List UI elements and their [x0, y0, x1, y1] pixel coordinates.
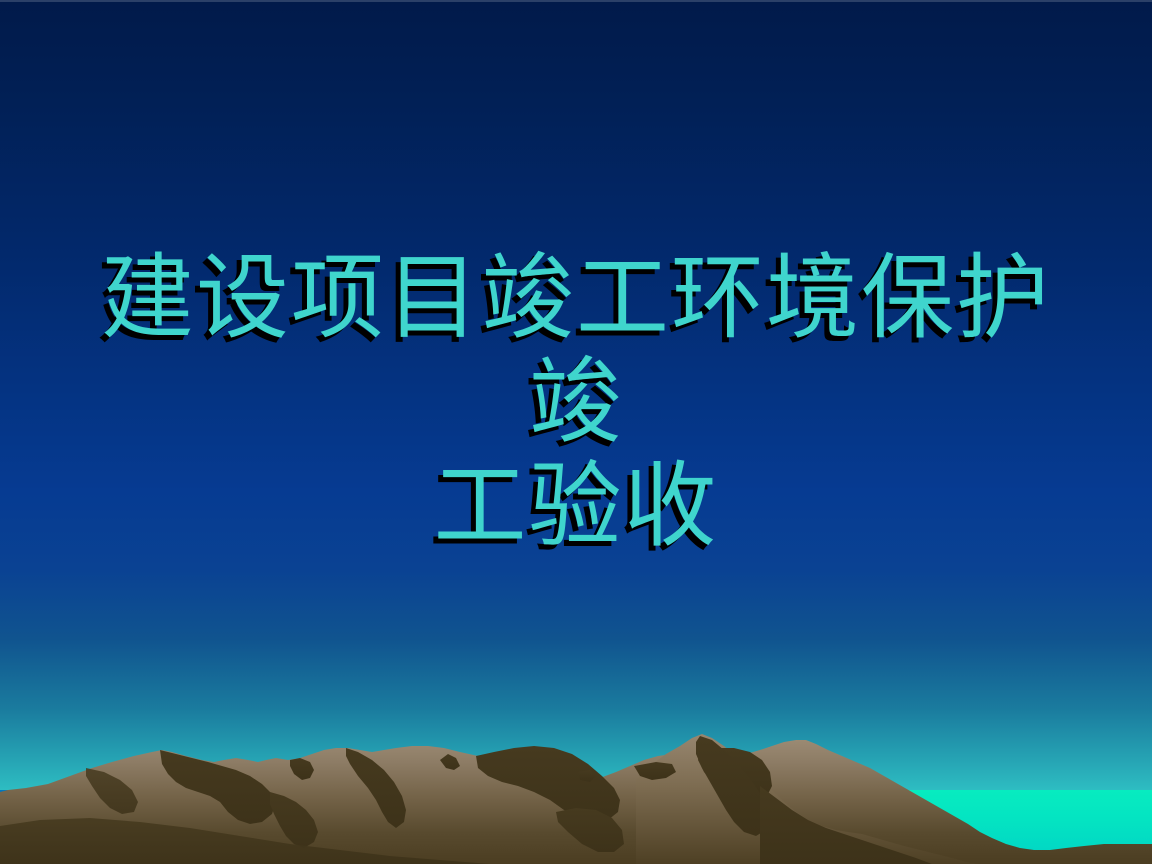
slide-top-edge-line: [0, 0, 1152, 2]
slide-title-text: 建设项目竣工环境保护竣 工验收: [0, 246, 1152, 558]
slide-title-line-1: 建设项目竣工环境保护竣: [70, 246, 1082, 454]
slide-title-line-2: 工验收: [70, 454, 1082, 558]
presentation-slide: 建设项目竣工环境保护竣 工验收: [0, 0, 1152, 864]
mountain-range-graphic: [0, 726, 1152, 864]
slide-title[interactable]: 建设项目竣工环境保护竣 工验收: [0, 246, 1152, 558]
